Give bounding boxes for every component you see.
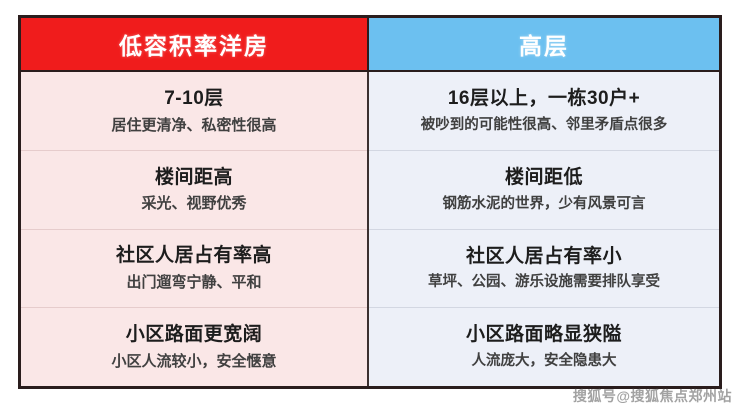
- watermark: 搜狐号@搜狐焦点郑州站: [573, 386, 732, 406]
- header-label-lowrise: 低容积率洋房: [119, 27, 269, 61]
- header-cell-lowrise: 低容积率洋房: [21, 18, 369, 70]
- cell-subtitle: 居住更清净、私密性很高: [111, 116, 276, 136]
- cell-title: 社区人居占有率小: [466, 245, 622, 269]
- comparison-table: 低容积率洋房 高层 7-10层 居住更清净、私密性很高 楼间距高 采光、视野优秀…: [18, 15, 722, 389]
- cell-subtitle: 被吵到的可能性很高、邻里矛盾点很多: [421, 116, 668, 135]
- cell-title: 16层以上，一栋30户+: [448, 87, 640, 111]
- cell-title: 小区路面略显狭隘: [466, 323, 622, 347]
- cell-title: 小区路面更宽阔: [126, 323, 263, 347]
- cell-subtitle: 钢筋水泥的世界，少有风景可言: [443, 195, 646, 214]
- table-cell: 16层以上，一栋30户+ 被吵到的可能性很高、邻里矛盾点很多: [369, 72, 719, 150]
- table-cell: 楼间距高 采光、视野优秀: [21, 150, 367, 229]
- column-lowrise: 7-10层 居住更清净、私密性很高 楼间距高 采光、视野优秀 社区人居占有率高 …: [21, 72, 369, 386]
- cell-subtitle: 采光、视野优秀: [141, 194, 246, 214]
- table-cell: 小区路面略显狭隘 人流庞大，安全隐患大: [369, 307, 719, 386]
- cell-title: 社区人居占有率高: [116, 244, 272, 268]
- cell-subtitle: 草坪、公园、游乐设施需要排队享受: [428, 273, 660, 292]
- header-label-highrise: 高层: [519, 27, 569, 61]
- cell-subtitle: 出门遛弯宁静、平和: [126, 273, 261, 293]
- header-cell-highrise: 高层: [369, 18, 719, 70]
- cell-subtitle: 人流庞大，安全隐患大: [472, 352, 617, 371]
- table-cell: 社区人居占有率小 草坪、公园、游乐设施需要排队享受: [369, 229, 719, 308]
- cell-title: 7-10层: [164, 87, 224, 111]
- table-cell: 小区路面更宽阔 小区人流较小，安全惬意: [21, 307, 367, 386]
- table-cell: 7-10层 居住更清净、私密性很高: [21, 72, 367, 150]
- cell-title: 楼间距低: [505, 166, 583, 190]
- table-cell: 楼间距低 钢筋水泥的世界，少有风景可言: [369, 150, 719, 229]
- column-highrise: 16层以上，一栋30户+ 被吵到的可能性很高、邻里矛盾点很多 楼间距低 钢筋水泥…: [369, 72, 719, 386]
- cell-title: 楼间距高: [155, 166, 233, 190]
- table-body: 7-10层 居住更清净、私密性很高 楼间距高 采光、视野优秀 社区人居占有率高 …: [21, 72, 719, 386]
- table-cell: 社区人居占有率高 出门遛弯宁静、平和: [21, 229, 367, 308]
- table-header-row: 低容积率洋房 高层: [21, 18, 719, 72]
- cell-subtitle: 小区人流较小，安全惬意: [111, 352, 276, 372]
